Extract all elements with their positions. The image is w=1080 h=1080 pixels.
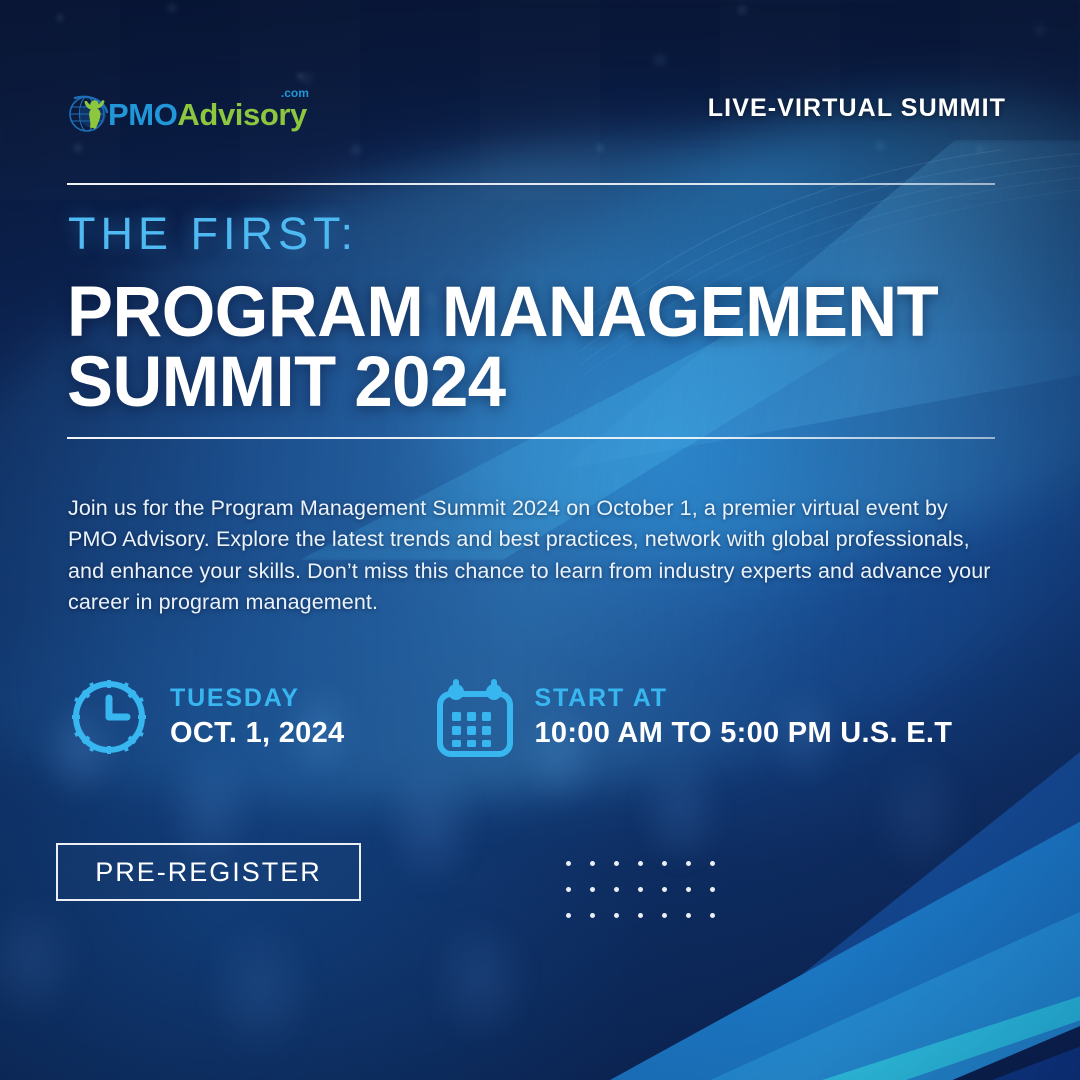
- ornament-dot: [710, 887, 715, 892]
- event-date-block: TUESDAY OCT. 1, 2024: [68, 676, 344, 758]
- event-description: Join us for the Program Management Summi…: [68, 493, 998, 619]
- ornament-dot: [662, 887, 667, 892]
- ornament-dot: [686, 861, 691, 866]
- page-title-line-1: PROGRAM MANAGEMENT: [67, 273, 938, 352]
- ornament-dot: [590, 887, 595, 892]
- event-start-label: START AT: [534, 684, 952, 713]
- divider-bottom: [67, 437, 995, 439]
- brand-wordmark: PMOAdvisory .com: [108, 99, 307, 130]
- divider-top: [67, 183, 995, 185]
- brand-tld: .com: [281, 87, 309, 99]
- ornament-dot: [638, 913, 643, 918]
- event-day-label: TUESDAY: [170, 684, 344, 713]
- ornament-dot: [638, 861, 643, 866]
- ornament-dot: [686, 913, 691, 918]
- brand-name-pmo: PMO: [108, 97, 177, 132]
- event-details-row: TUESDAY OCT. 1, 2024: [68, 676, 952, 758]
- page-title: PROGRAM MANAGEMENT SUMMIT 2024: [67, 278, 938, 417]
- event-poster: PMOAdvisory .com LIVE-VIRTUAL SUMMIT THE…: [0, 0, 1080, 1080]
- ornament-dot: [662, 861, 667, 866]
- calendar-icon: [436, 676, 514, 758]
- ornament-dot: [686, 887, 691, 892]
- dot-grid-ornament: [566, 861, 734, 939]
- ornament-dot: [590, 913, 595, 918]
- event-format-kicker: LIVE-VIRTUAL SUMMIT: [708, 94, 1006, 123]
- ornament-dot: [662, 913, 667, 918]
- ornament-dot: [590, 861, 595, 866]
- ornament-dot: [710, 913, 715, 918]
- ornament-dot: [710, 861, 715, 866]
- pre-register-button[interactable]: PRE-REGISTER: [56, 843, 361, 901]
- ornament-dot: [614, 861, 619, 866]
- ornament-dot: [566, 913, 571, 918]
- page-title-line-2: SUMMIT 2024: [67, 348, 938, 418]
- brand-name-advisory: Advisory: [177, 97, 306, 132]
- event-time-block: START AT 10:00 AM TO 5:00 PM U.S. E.T: [436, 676, 952, 758]
- ornament-dot: [638, 887, 643, 892]
- ornament-dot: [614, 913, 619, 918]
- clock-icon: [68, 676, 150, 758]
- event-date-value: OCT. 1, 2024: [170, 717, 344, 750]
- ornament-dot: [614, 887, 619, 892]
- brand-logo[interactable]: PMOAdvisory .com: [68, 92, 307, 136]
- ornament-dot: [566, 887, 571, 892]
- ornament-dot: [566, 861, 571, 866]
- pmo-globe-figure-icon: [68, 92, 110, 136]
- event-time-value: 10:00 AM TO 5:00 PM U.S. E.T: [534, 717, 952, 750]
- title-eyebrow: THE FIRST:: [68, 211, 358, 256]
